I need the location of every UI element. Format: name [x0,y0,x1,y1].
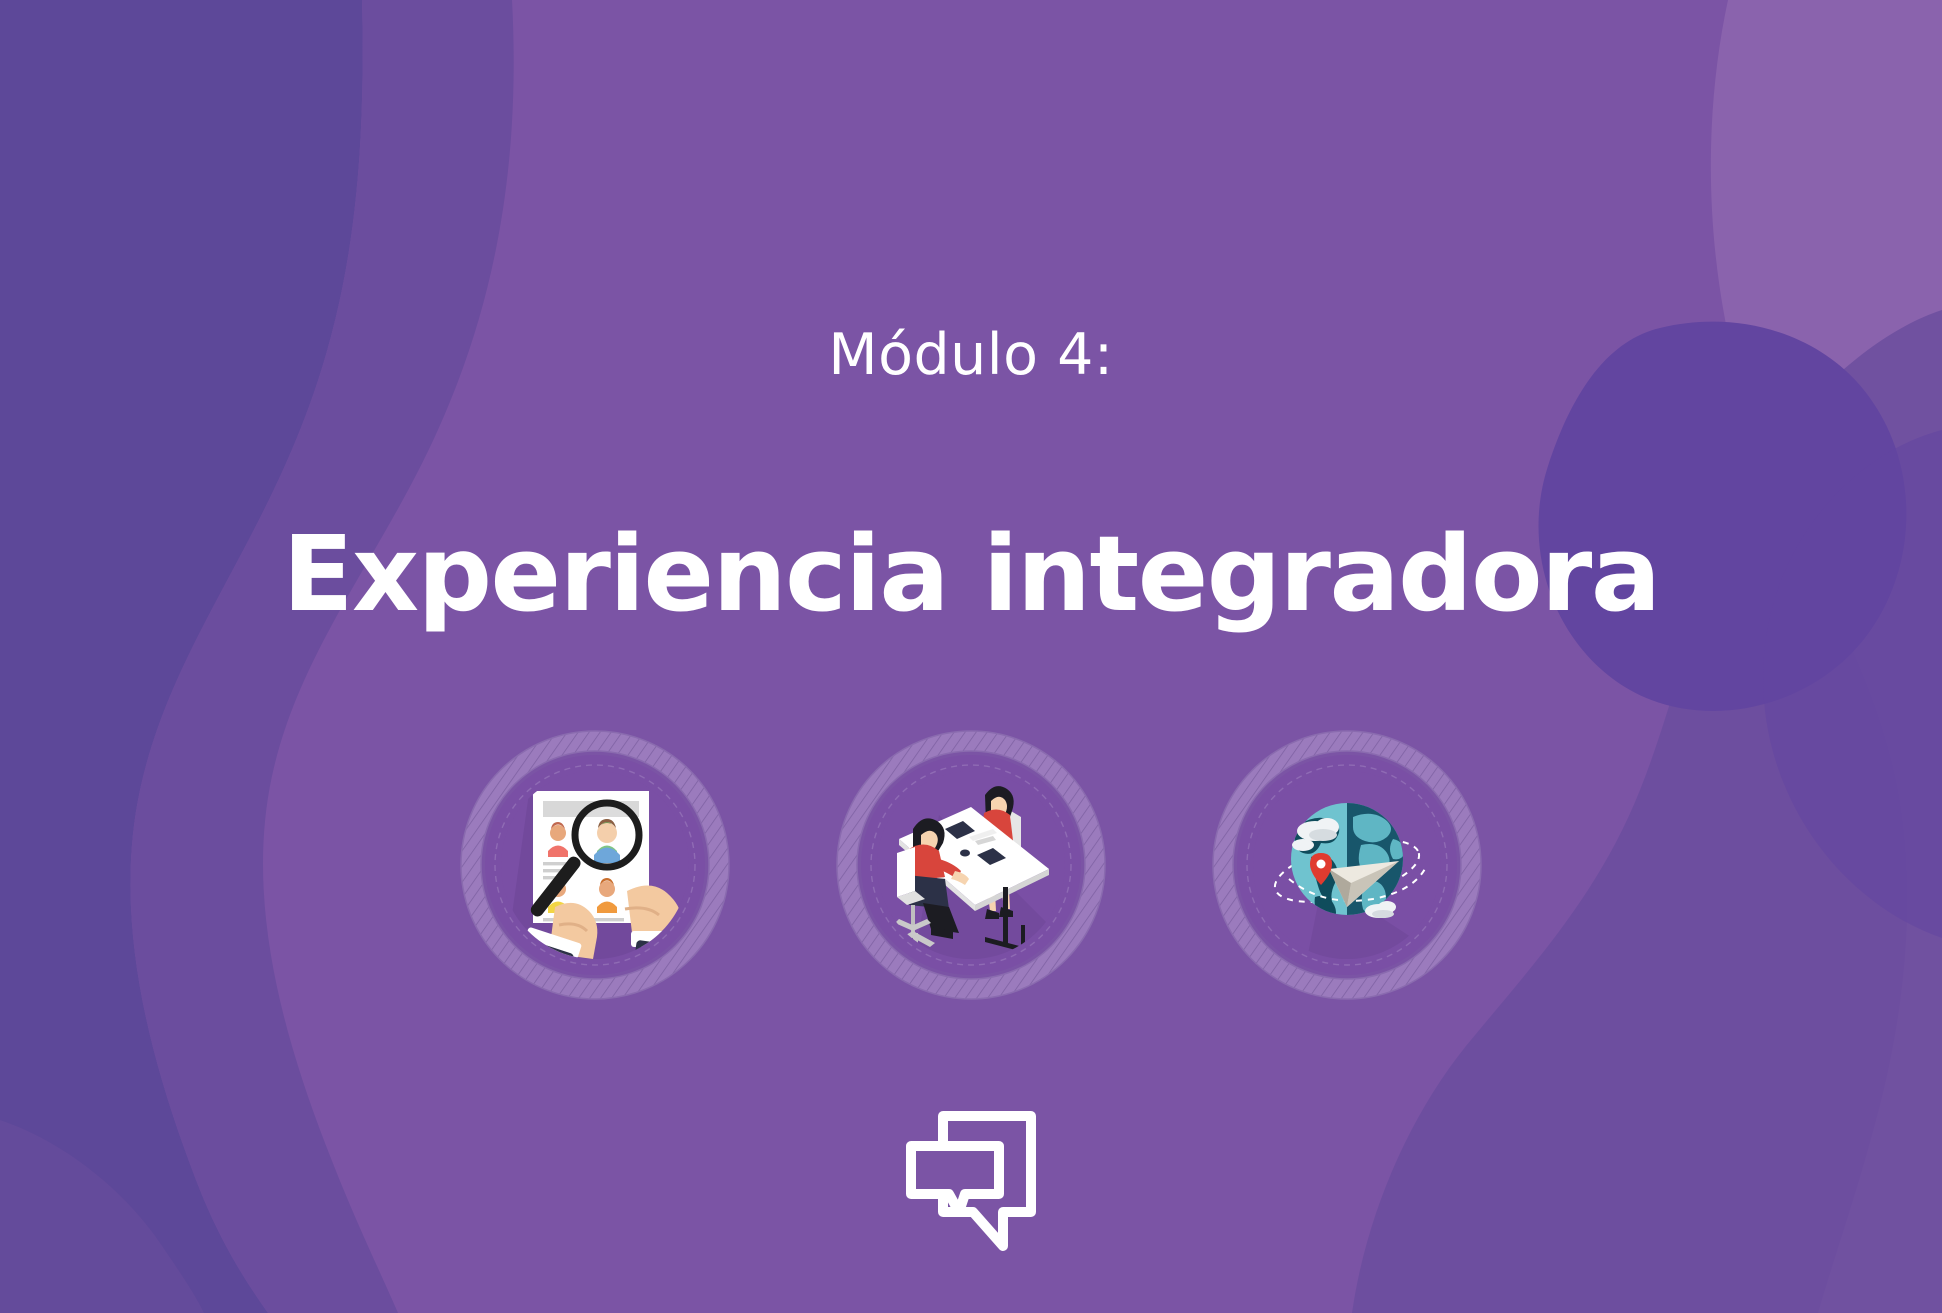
page-title: Experiencia integradora [0,522,1942,626]
medallion-global-mobility [1211,729,1483,1001]
brand-logo [0,1108,1942,1256]
slide-root: Módulo 4: Experiencia integradora [0,0,1942,1313]
medallion-job-interview [835,729,1107,1001]
medallion-row [0,729,1942,1001]
double-speech-bubble-icon [903,1108,1039,1256]
slide-content: Módulo 4: Experiencia integradora [0,0,1942,1313]
module-eyebrow: Módulo 4: [0,327,1942,384]
medallion-candidate-screening [459,729,731,1001]
